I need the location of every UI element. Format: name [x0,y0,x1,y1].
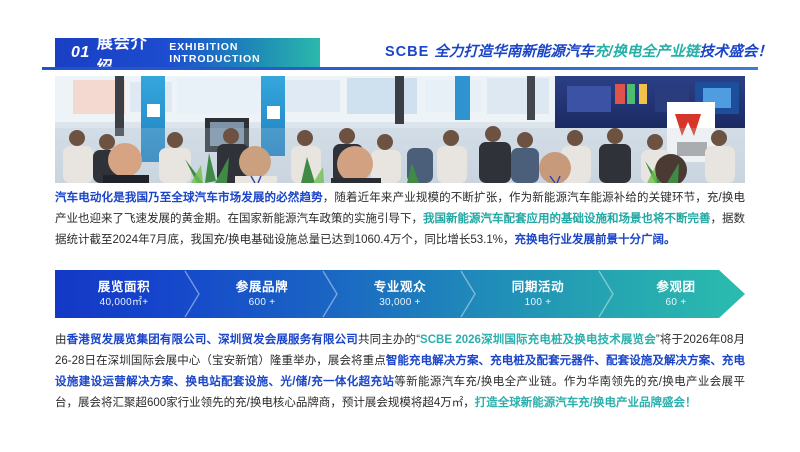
stat-item-visitors: 专业观众 30,000 + [331,270,469,318]
exhibition-photo-graphic [55,76,745,183]
stat-value: 60 + [666,295,687,310]
intro-paragraph: 汽车电动化是我国乃至全球汽车市场发展的必然趋势，随着近年来产业规模的不断扩张，作… [55,188,745,251]
exhibition-photo [55,76,745,183]
stat-item-events: 同期活动 100 + [469,270,607,318]
slogan-brand: SCBE [385,44,434,60]
exhibition-name-highlight: SCBE 2026深圳国际充电桩及换电技术展览会 [420,334,656,346]
stat-label: 同期活动 [512,279,564,295]
page-title: 展会介绍 [97,29,159,77]
header-divider-line [42,67,758,70]
stat-item-exhibition-area: 展览面积 40,000㎡+ [55,270,193,318]
stat-value: 40,000㎡+ [100,295,149,310]
stats-bar: 展览面积 40,000㎡+ 参展品牌 600 + 专业观众 30,000 + [55,270,745,318]
stats-items: 展览面积 40,000㎡+ 参展品牌 600 + 专业观众 30,000 + [55,270,745,318]
page-title-english: EXHIBITION INTRODUCTION [169,41,320,65]
section-number: 01 [71,44,90,62]
closing-highlight: 打造全球新能源汽车充/换电产业品牌盛会！ [475,397,697,409]
organizers-highlight: 香港贸发展览集团有限公司、深圳贸发会展服务有限公司 [67,334,358,346]
stat-value: 600 + [249,295,276,310]
stat-value: 30,000 + [379,295,421,310]
intro-highlight-tail: 充换电行业发展前景十分广阔。 [514,234,675,246]
stat-label: 参观团 [656,279,695,295]
details-text-a: 由 [55,334,67,346]
details-text-b: 共同主办的“ [358,334,420,346]
exhibition-introduction-page: 01 展会介绍 EXHIBITION INTRODUCTION SCBE 全力打… [0,0,800,452]
slogan-part-one: 全力打造华南新能源汽车 [434,44,594,60]
page-header: 01 展会介绍 EXHIBITION INTRODUCTION SCBE 全力打… [55,38,745,68]
stat-value: 100 + [525,295,552,310]
stat-label: 专业观众 [374,279,426,295]
stat-item-delegations: 参观团 60 + [607,270,745,318]
details-paragraph: 由香港贸发展览集团有限公司、深圳贸发会展服务有限公司共同主办的“SCBE 202… [55,330,745,414]
stat-item-brands: 参展品牌 600 + [193,270,331,318]
slogan-part-two: 技术盛会！ [699,44,772,60]
slogan-highlight: 充/换电全产业链 [594,44,700,60]
stat-label: 参展品牌 [236,279,288,295]
intro-highlight-lead: 汽车电动化是我国乃至全球汽车市场发展的必然趋势 [55,192,323,204]
stat-label: 展览面积 [98,279,150,295]
header-slogan: SCBE 全力打造华南新能源汽车充/换电全产业链技术盛会！ [385,40,800,65]
intro-highlight-teal: 我国新能源汽车配套应用的基础设施和场景也将不断完善 [423,213,711,225]
section-tag-banner: 01 展会介绍 EXHIBITION INTRODUCTION [55,38,320,68]
